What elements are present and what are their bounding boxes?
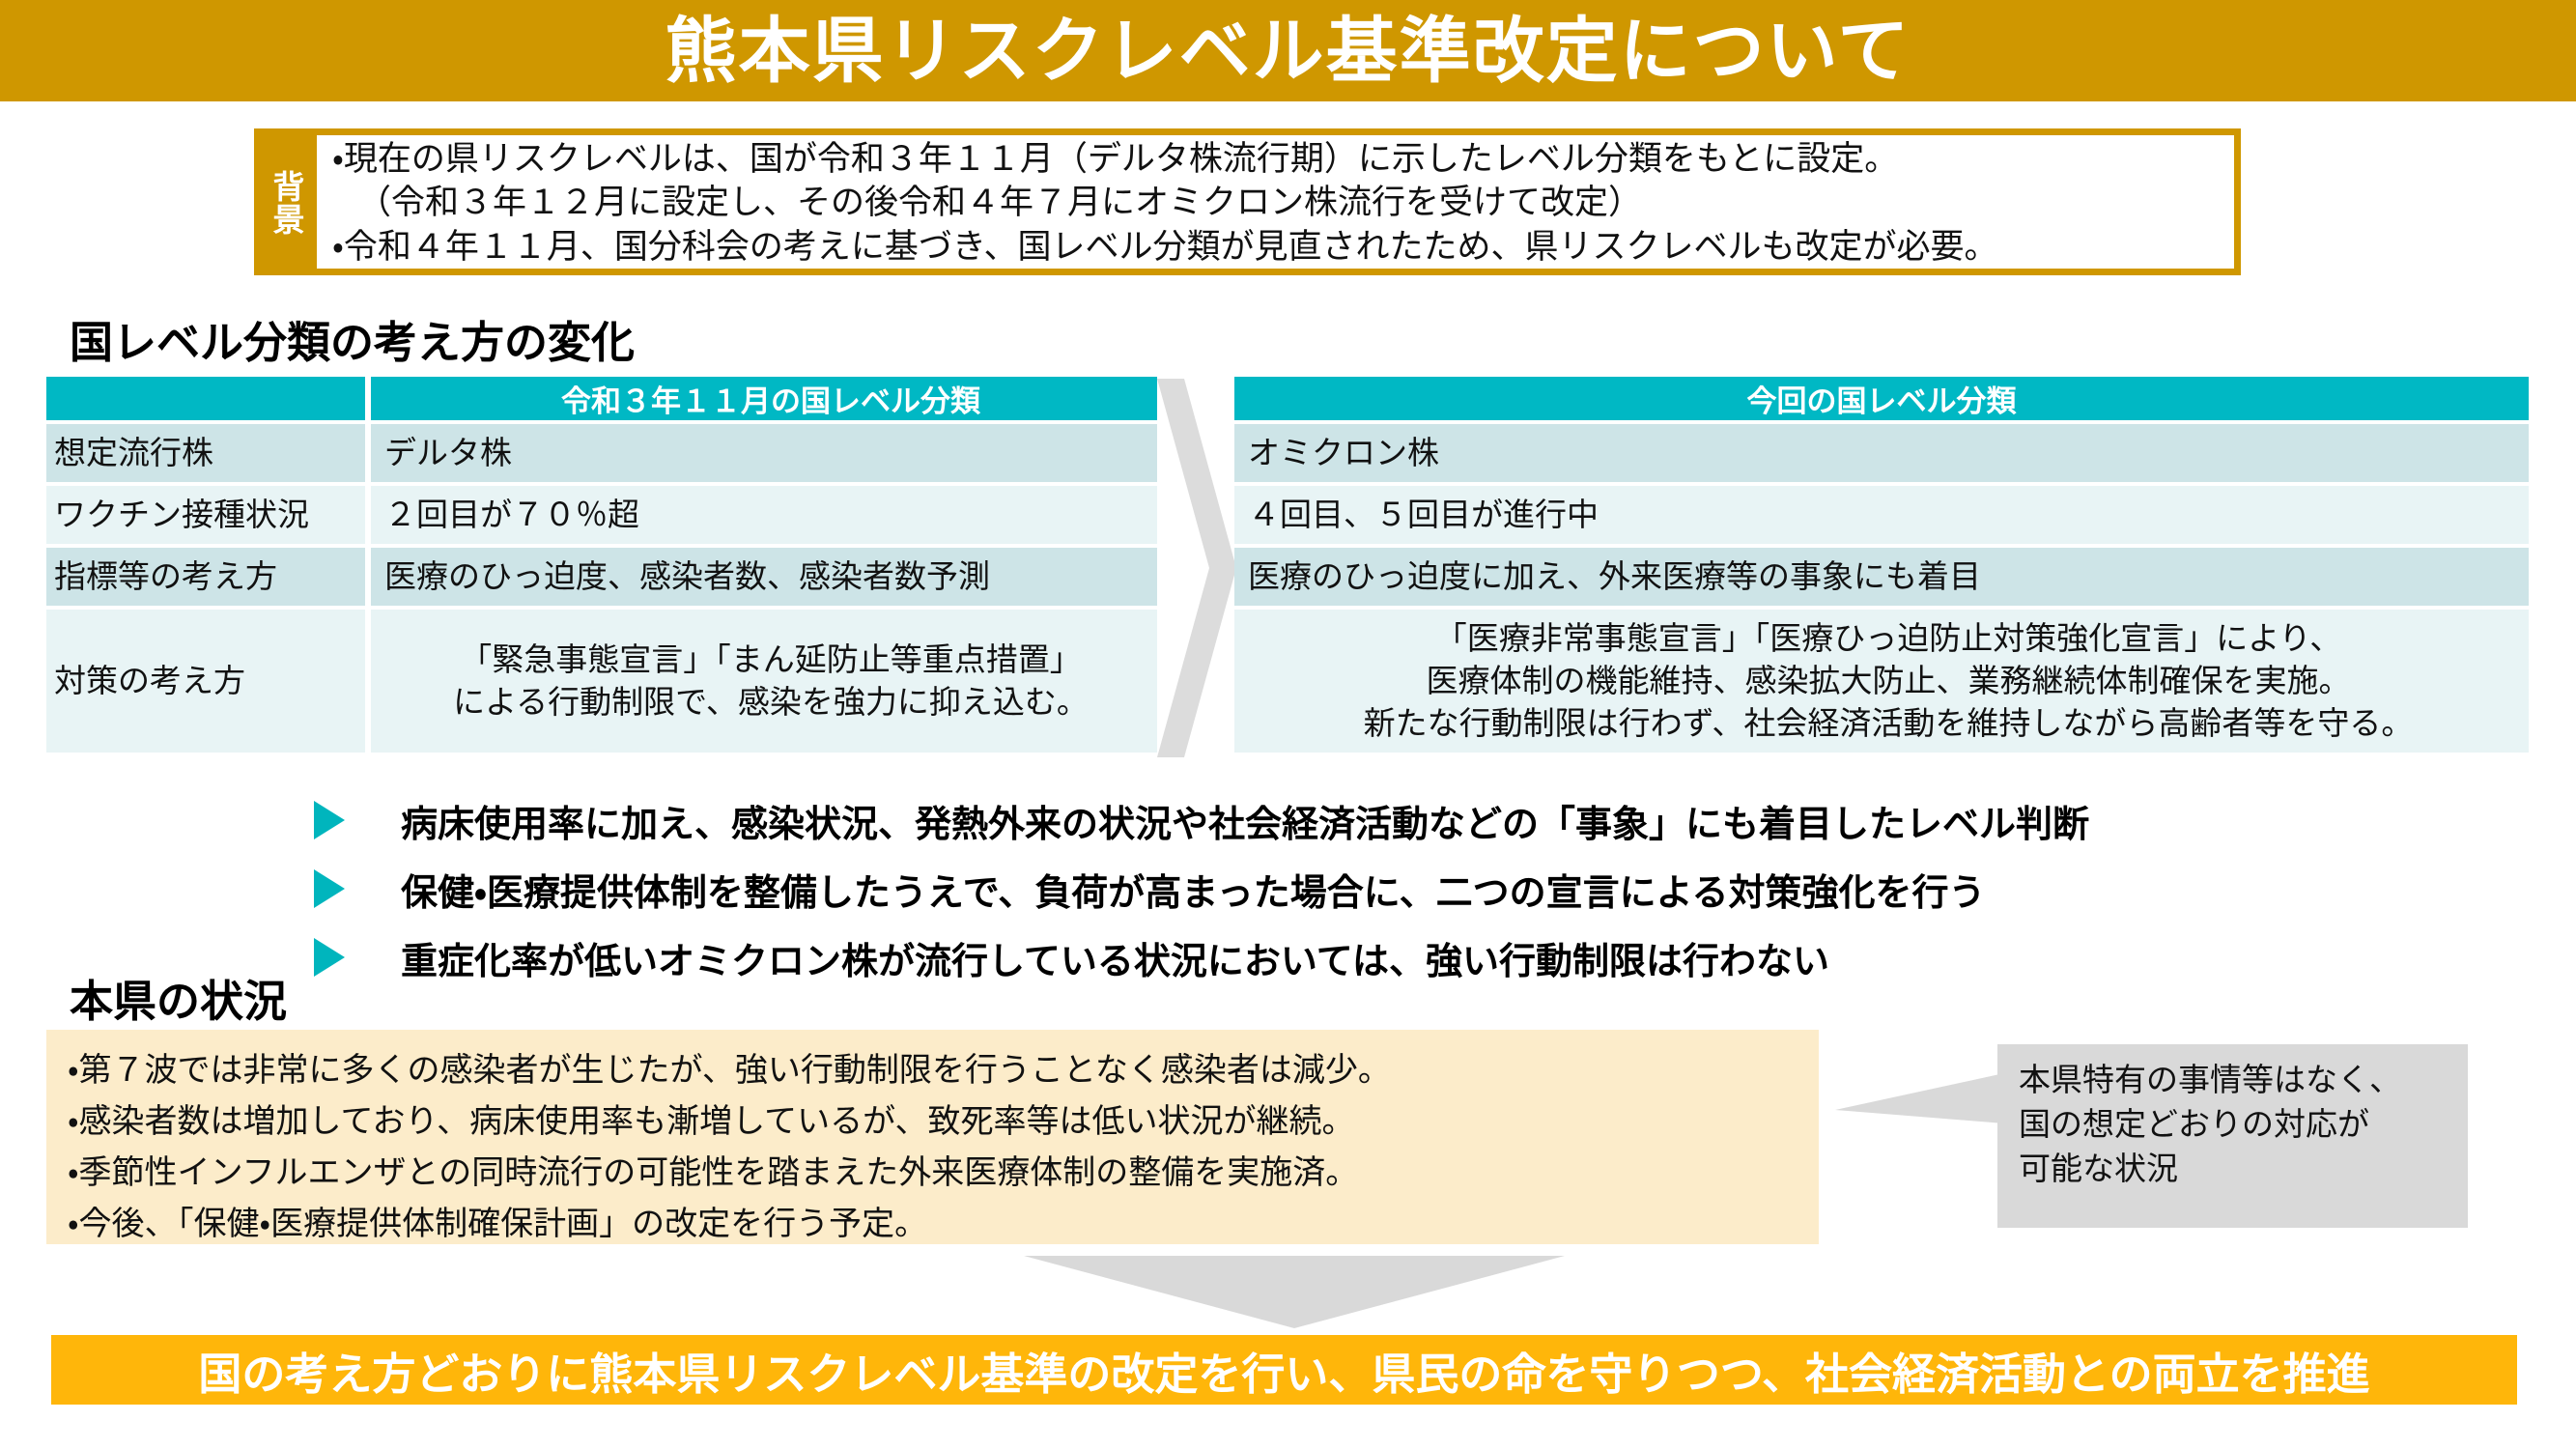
section-heading-national-level: 国レベル分類の考え方の変化: [70, 307, 635, 370]
conclusion-banner: 国の考え方どおりに熊本県リスクレベル基準の改定を行い、県民の命を守りつつ、社会経…: [51, 1335, 2517, 1405]
row-value-vaccination-left: ２回目が７０％超: [371, 486, 1157, 544]
prefecture-status-box: ・第７波では非常に多くの感染者が生じたが、強い行動制限を行うことなく感染者は減少…: [46, 1030, 1819, 1244]
table-corner-cell: [46, 377, 365, 420]
page-title: 熊本県リスクレベル基準改定について: [0, 0, 2576, 101]
table-row: 指標等の考え方 医療のひっ迫度、感染者数、感染者数予測: [46, 548, 1157, 606]
row-value-indicators-left: 医療のひっ迫度、感染者数、感染者数予測: [371, 548, 1157, 606]
triangle-bullet-icon: [314, 938, 383, 977]
note-line-3: 可能な状況: [2019, 1147, 2468, 1191]
prefecture-status-line-3: ・季節性インフルエンザとの同時流行の可能性を踏まえた外来医療体制の整備を実施済。: [68, 1148, 1819, 1199]
triangle-bullet-icon: [314, 801, 383, 839]
measures-left-line-2: による行動制限で、感染を強力に抑え込む。: [453, 681, 1089, 724]
background-line-1: ・現在の県リスクレベルは、国が令和３年１１月（デルタ株流行期）に示したレベル分類…: [332, 137, 2224, 182]
background-tab-char-1: 背: [273, 171, 305, 204]
row-label-indicators: 指標等の考え方: [46, 548, 365, 606]
background-line-2: （令和３年１２月に設定し、その後令和４年７月にオミクロン株流行を受けて改定）: [332, 181, 2224, 225]
measures-right-line-1: 「医療非常事態宣言」「医療ひっ迫防止対策強化宣言」により、: [1435, 617, 2342, 660]
row-label-measures: 対策の考え方: [46, 610, 365, 753]
row-value-indicators-right: 医療のひっ迫度に加え、外来医療等の事象にも着目: [1234, 548, 2529, 606]
table-current-national-level: 今回の国レベル分類 オミクロン株 ４回目、５回目が進行中 医療のひっ迫度に加え、…: [1234, 377, 2529, 753]
conclusion-text: 国の考え方どおりに熊本県リスクレベル基準の改定を行い、県民の命を守りつつ、社会経…: [198, 1339, 2369, 1402]
background-text-block: ・現在の県リスクレベルは、国が令和３年１１月（デルタ株流行期）に示したレベル分類…: [317, 135, 2234, 269]
down-arrow-icon: [1024, 1256, 1565, 1328]
key-points-list: 病床使用率に加え、感染状況、発熱外来の状況や社会経済活動などの「事象」にも着目し…: [314, 790, 2439, 996]
measures-right-line-2: 医療体制の機能維持、感染拡大防止、業務継続体制確保を実施。: [1427, 660, 2351, 702]
row-label-strain: 想定流行株: [46, 424, 365, 482]
table-row: ワクチン接種状況 ２回目が７０％超: [46, 486, 1157, 544]
key-point-text-2: 保健・医療提供体制を整備したうえで、負荷が高まった場合に、二つの宣言による対策強…: [401, 863, 1985, 916]
transition-chevron-icon: [1151, 375, 1238, 761]
row-value-measures-left: 「緊急事態宣言」「まん延防止等重点措置」 による行動制限で、感染を強力に抑え込む…: [371, 610, 1157, 753]
row-value-vaccination-right: ４回目、５回目が進行中: [1234, 486, 2529, 544]
table-header-left: 令和３年１１月の国レベル分類: [371, 377, 1157, 420]
list-item: 重症化率が低いオミクロン株が流行している状況においては、強い行動制限は行わない: [314, 927, 2439, 987]
measures-left-line-1: 「緊急事態宣言」「まん延防止等重点措置」: [460, 639, 1082, 681]
background-callout-box: 背 景 ・現在の県リスクレベルは、国が令和３年１１月（デルタ株流行期）に示したレ…: [254, 128, 2241, 275]
list-item: 保健・医療提供体制を整備したうえで、負荷が高まった場合に、二つの宣言による対策強…: [314, 859, 2439, 919]
table-row: 対策の考え方 「緊急事態宣言」「まん延防止等重点措置」 による行動制限で、感染を…: [46, 610, 1157, 753]
row-label-vaccination: ワクチン接種状況: [46, 486, 365, 544]
section-heading-prefecture-status: 本県の状況: [70, 966, 287, 1029]
triangle-bullet-icon: [314, 869, 383, 908]
note-box: 本県特有の事情等はなく、 国の想定どおりの対応が 可能な状況: [1997, 1044, 2468, 1228]
background-tab-label: 背 景: [261, 135, 317, 269]
list-item: 病床使用率に加え、感染状況、発熱外来の状況や社会経済活動などの「事象」にも着目し…: [314, 790, 2439, 850]
table-row: 想定流行株 デルタ株: [46, 424, 1157, 482]
row-value-strain-right: オミクロン株: [1234, 424, 2529, 482]
table-header-right: 今回の国レベル分類: [1234, 377, 2529, 420]
row-value-strain-left: デルタ株: [371, 424, 1157, 482]
note-line-1: 本県特有の事情等はなく、: [2019, 1058, 2468, 1102]
title-bar: 熊本県リスクレベル基準改定について: [0, 0, 2576, 101]
note-line-2: 国の想定どおりの対応が: [2019, 1102, 2468, 1147]
prefecture-status-line-2: ・感染者数は増加しており、病床使用率も漸増しているが、致死率等は低い状況が継続。: [68, 1096, 1819, 1148]
key-point-text-3: 重症化率が低いオミクロン株が流行している状況においては、強い行動制限は行わない: [401, 931, 1829, 984]
prefecture-status-line-4: ・今後、「保健・医療提供体制確保計画」の改定を行う予定。: [68, 1199, 1819, 1250]
prefecture-status-line-1: ・第７波では非常に多くの感染者が生じたが、強い行動制限を行うことなく感染者は減少…: [68, 1045, 1819, 1096]
row-value-measures-right: 「医療非常事態宣言」「医療ひっ迫防止対策強化宣言」により、 医療体制の機能維持、…: [1234, 610, 2529, 753]
key-point-text-1: 病床使用率に加え、感染状況、発熱外来の状況や社会経済活動などの「事象」にも着目し…: [401, 794, 2089, 847]
table-header-row: 令和３年１１月の国レベル分類: [46, 377, 1157, 420]
background-line-3: ・令和４年１１月、国分科会の考えに基づき、国レベル分類が見直されたため、県リスク…: [332, 225, 2224, 270]
measures-right-line-3: 新たな行動制限は行わず、社会経済活動を維持しながら高齢者等を守る。: [1364, 702, 2414, 745]
left-pointing-arrow-icon: [1835, 1067, 2004, 1135]
background-tab-char-2: 景: [273, 204, 305, 237]
table-previous-national-level: 令和３年１１月の国レベル分類 想定流行株 デルタ株 ワクチン接種状況 ２回目が７…: [46, 377, 1157, 753]
